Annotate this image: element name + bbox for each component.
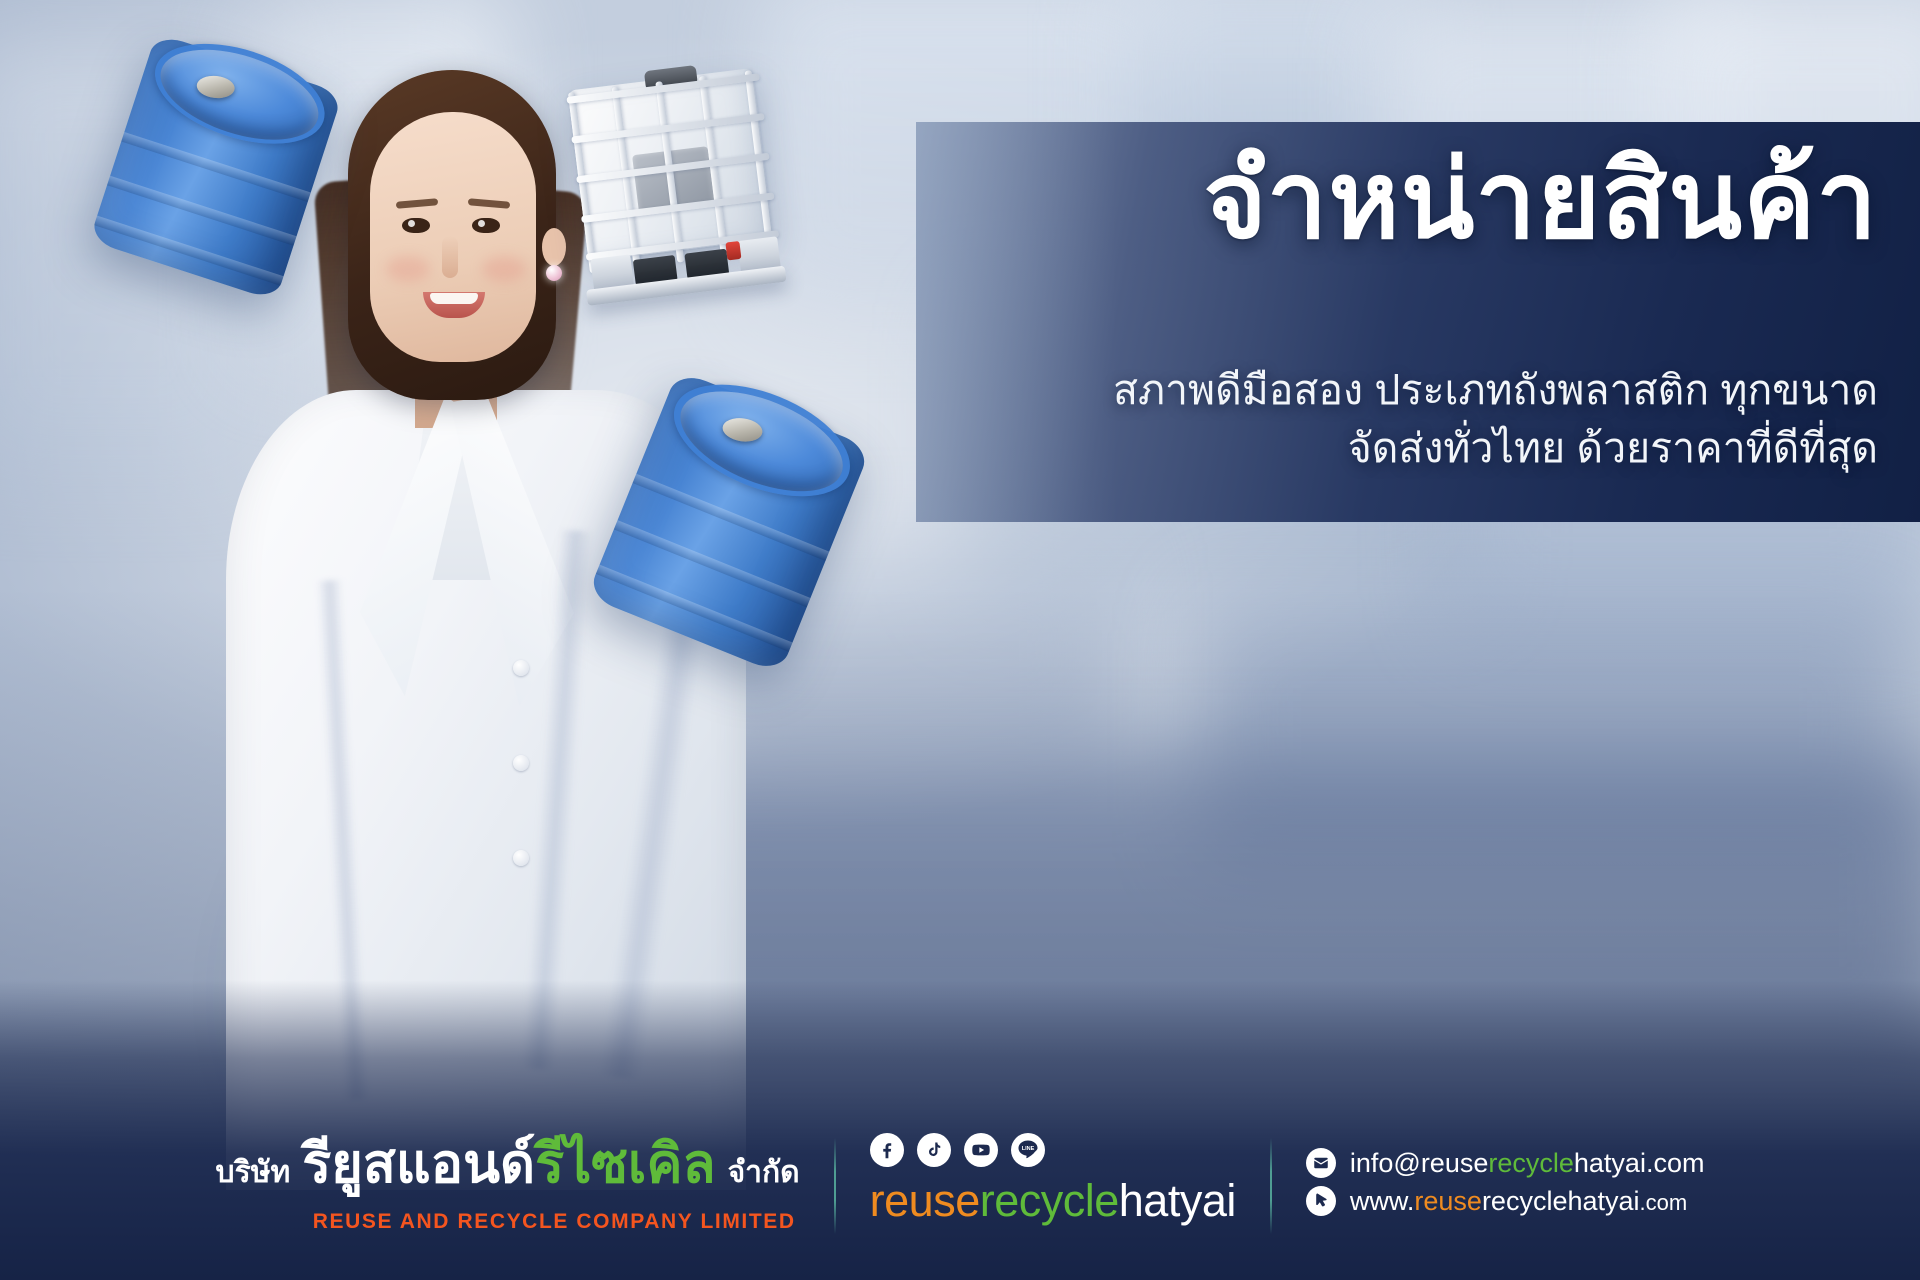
email-part-2: recycle xyxy=(1488,1148,1574,1178)
blazer-button xyxy=(513,755,529,771)
contact-block: info@reuserecyclehatyai.com www.reuserec… xyxy=(1272,1141,1705,1224)
blazer-button xyxy=(513,850,529,866)
headline-text: จำหน่ายสินค้า xyxy=(1203,136,1878,263)
company-suffix: จำกัด xyxy=(728,1149,800,1196)
handle-part-green: recycle xyxy=(980,1175,1119,1226)
line-icon[interactable]: LINE xyxy=(1011,1133,1045,1167)
eye-right xyxy=(472,218,500,233)
envelope-icon xyxy=(1306,1148,1336,1178)
headline-panel: จำหน่ายสินค้า สภาพดีมือสอง ประเภทถังพลาส… xyxy=(916,122,1920,522)
ear xyxy=(542,228,566,266)
tiktok-icon[interactable] xyxy=(917,1133,951,1167)
email-part-1: info@reuse xyxy=(1350,1148,1488,1178)
cursor-click-icon xyxy=(1306,1186,1336,1216)
svg-text:LINE: LINE xyxy=(1021,1146,1034,1152)
website-part-1: www. xyxy=(1350,1186,1415,1216)
handle-part-white: hatyai xyxy=(1119,1175,1236,1226)
eye-left xyxy=(402,218,430,233)
company-name-english: REUSE AND RECYCLE COMPANY LIMITED xyxy=(216,1210,800,1234)
banner-canvas: จำหน่ายสินค้า สภาพดีมือสอง ประเภทถังพลาส… xyxy=(0,0,1920,1280)
youtube-icon[interactable] xyxy=(964,1133,998,1167)
earring xyxy=(546,265,562,281)
company-name-part-green: รีไซเคิล xyxy=(535,1134,715,1194)
social-block: LINE reuserecyclehatyai xyxy=(836,1133,1270,1227)
subtitle-line-1: สภาพดีมือสอง ประเภทถังพลาสติก ทุกขนาด xyxy=(1113,364,1878,417)
company-name-thai: บริษัท รียูสแอนด์รีไซเคิล จำกัด xyxy=(216,1120,800,1206)
email-text: info@reuserecyclehatyai.com xyxy=(1350,1148,1705,1179)
handle-part-orange: reuse xyxy=(870,1175,980,1226)
eye-highlight xyxy=(478,220,485,227)
nose xyxy=(442,236,458,278)
website-part-4: .com xyxy=(1640,1190,1688,1215)
teeth xyxy=(430,293,478,304)
website-text: www.reuserecyclehatyai.com xyxy=(1350,1186,1687,1217)
contact-row-email[interactable]: info@reuserecyclehatyai.com xyxy=(1306,1148,1705,1179)
cheek-blush xyxy=(482,256,526,282)
footer-overlay: บริษัท รียูสแอนด์รีไซเคิล จำกัด REUSE AN… xyxy=(0,980,1920,1280)
blazer-button xyxy=(513,660,529,676)
email-part-3: hatyai.com xyxy=(1574,1148,1705,1178)
website-part-2: reuse xyxy=(1414,1186,1482,1216)
tank-valve xyxy=(725,241,741,261)
ibc-tote-tank xyxy=(553,59,803,311)
company-name-main: รียูสแอนด์รีไซเคิล xyxy=(302,1120,715,1206)
cheek-blush xyxy=(386,256,430,282)
social-icon-row: LINE xyxy=(870,1133,1236,1167)
facebook-icon[interactable] xyxy=(870,1133,904,1167)
company-name-part-white: รียูสแอนด์ xyxy=(302,1134,535,1194)
footer-bar: บริษัท รียูสแอนด์รีไซเคิล จำกัด REUSE AN… xyxy=(0,1092,1920,1280)
subtitle-line-2: จัดส่งทั่วไทย ด้วยราคาที่ดีที่สุด xyxy=(1348,422,1878,475)
website-part-3: recyclehatyai xyxy=(1482,1186,1640,1216)
contact-row-website[interactable]: www.reuserecyclehatyai.com xyxy=(1306,1186,1705,1217)
company-logo: บริษัท รียูสแอนด์รีไซเคิล จำกัด REUSE AN… xyxy=(216,1120,834,1234)
social-handle[interactable]: reuserecyclehatyai xyxy=(870,1175,1236,1227)
eye-highlight xyxy=(408,220,415,227)
company-prefix: บริษัท xyxy=(216,1149,291,1196)
